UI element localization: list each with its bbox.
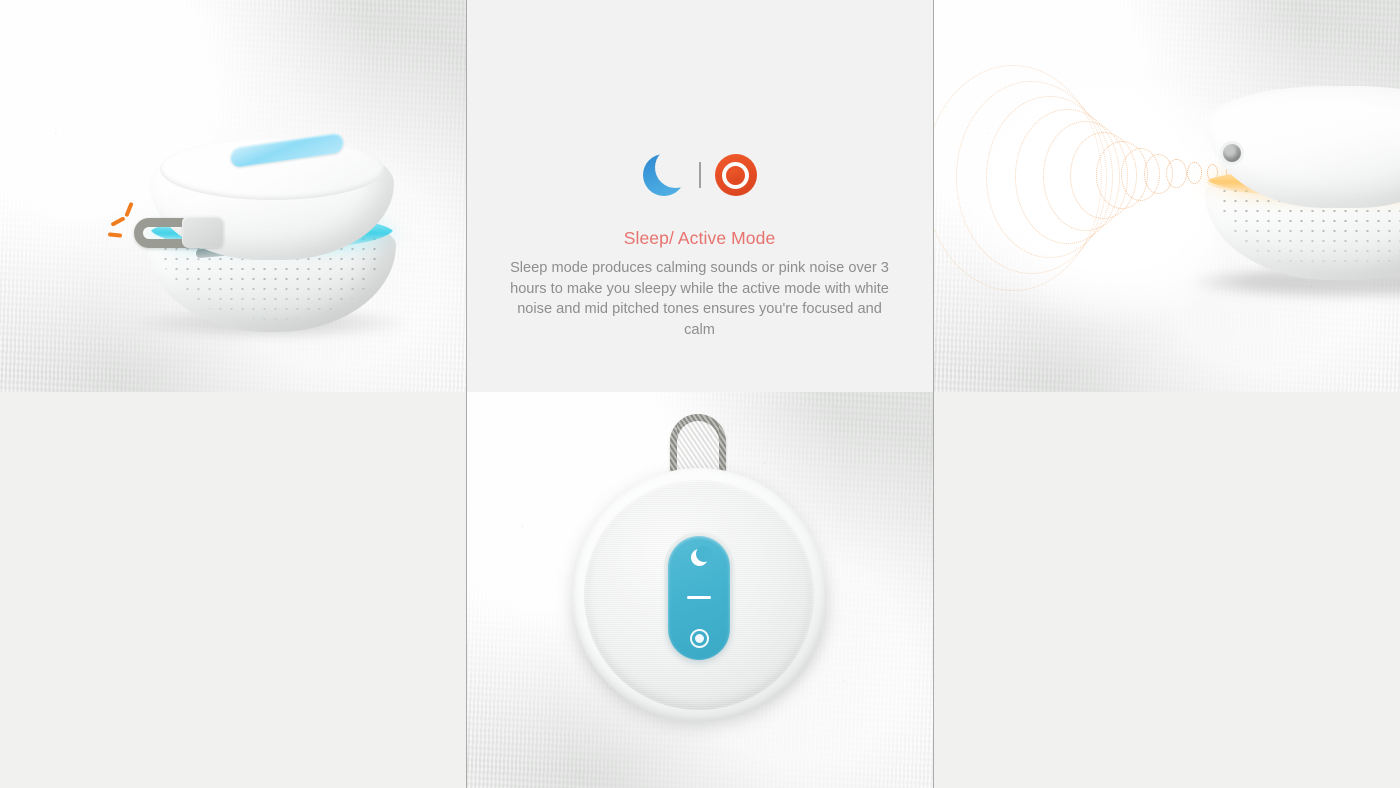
feature-title: Sleep/ Active Mode: [500, 228, 899, 249]
column-divider: [466, 0, 467, 788]
sensor-lens-icon: [1223, 144, 1241, 162]
dash-divider-icon: [687, 596, 711, 599]
panel-bottom-center-product-photo: [466, 392, 933, 788]
mode-icon-row: [466, 154, 933, 196]
tug-mark-icon: [124, 202, 133, 217]
device-sensor-render: [1183, 80, 1400, 310]
target-button-icon[interactable]: [690, 629, 709, 648]
panel-people-time-aware: & People & time aware Kip mini knows whe…: [933, 392, 1400, 788]
target-icon: [715, 154, 757, 196]
icon-divider: [699, 162, 701, 188]
moon-icon: [643, 154, 685, 196]
device-topdown-render: [564, 406, 836, 716]
panel-take-with-you: Take with you Kip mini is the perfect de…: [0, 392, 466, 788]
feature-grid: Sleep/ Active Mode Sleep mode produces c…: [0, 0, 1400, 788]
panel-sleep-active-mode: Sleep/ Active Mode Sleep mode produces c…: [466, 0, 933, 392]
control-strip[interactable]: [668, 536, 730, 660]
panel-top-left-product-photo: [0, 0, 466, 392]
device-strap-render: [120, 122, 420, 352]
feature-body: Sleep mode produces calming sounds or pi…: [500, 258, 899, 340]
column-divider: [933, 0, 934, 788]
moon-button-icon[interactable]: [691, 549, 708, 566]
sleep-active-text-block: Sleep/ Active Mode Sleep mode produces c…: [466, 228, 933, 340]
panel-top-right-product-photo: [933, 0, 1400, 392]
strap-mount-plate: [182, 216, 224, 248]
